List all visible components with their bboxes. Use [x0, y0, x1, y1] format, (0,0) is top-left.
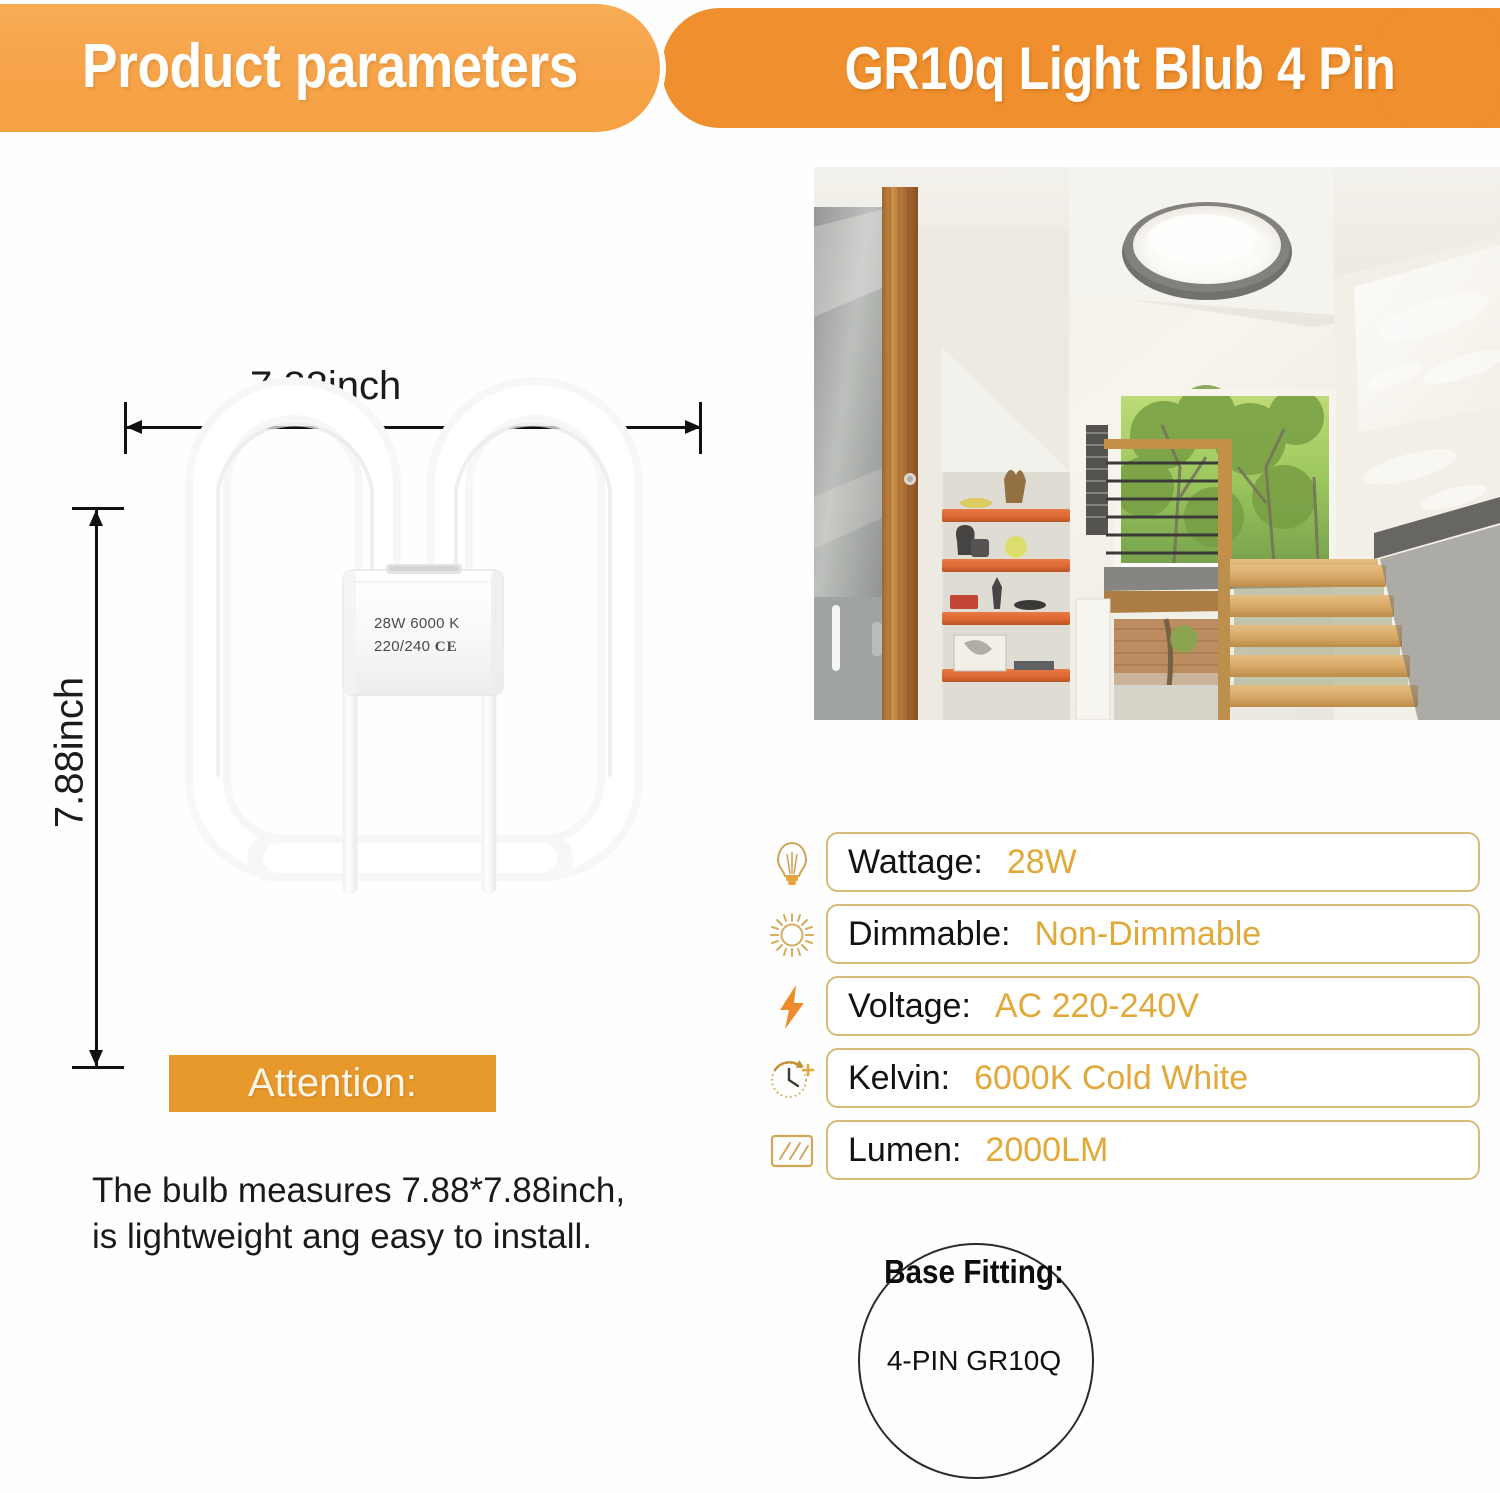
header-banner: GR10q Light Blub 4 Pin Product parameter… — [0, 0, 1500, 136]
bulb-base-printed-label: 28W 6000 K 220/240 CE — [374, 613, 534, 658]
height-dimension-line — [95, 508, 98, 1068]
hallway-stairwell-photo — [814, 167, 1500, 720]
bulb-icon — [763, 834, 821, 892]
spec-box-dimmable: Dimmable: Non-Dimmable — [826, 904, 1480, 964]
spec-value-wattage: 28W — [1007, 843, 1077, 882]
spec-value-lumen: 2000LM — [985, 1131, 1108, 1170]
spec-value-kelvin: 6000K Cold White — [974, 1059, 1248, 1098]
specifications-list: Wattage: 28W — [760, 832, 1500, 1182]
height-tick-bottom — [72, 1066, 124, 1069]
attention-badge: Attention: — [169, 1055, 496, 1112]
lifestyle-photo — [814, 167, 1500, 720]
spec-box-wattage: Wattage: 28W — [826, 832, 1480, 892]
spec-key-kelvin: Kelvin: — [848, 1059, 950, 1098]
spec-row-lumen: Lumen: 2000LM — [760, 1120, 1500, 1182]
attention-text: The bulb measures 7.88*7.88inch, is ligh… — [92, 1168, 712, 1260]
spec-value-dimmable: Non-Dimmable — [1034, 915, 1261, 954]
attention-badge-label: Attention: — [248, 1061, 417, 1106]
spec-value-voltage: AC 220-240V — [995, 987, 1199, 1026]
attention-text-line1: The bulb measures 7.88*7.88inch, — [92, 1168, 712, 1214]
spec-box-lumen: Lumen: 2000LM — [826, 1120, 1480, 1180]
bulb-label-line1: 28W 6000 K — [374, 613, 534, 636]
spec-key-lumen: Lumen: — [848, 1131, 961, 1170]
ce-mark-icon: CE — [435, 639, 458, 655]
sun-icon — [763, 906, 821, 964]
base-fitting-title: Base Fitting: — [870, 1253, 1079, 1291]
spec-box-voltage: Voltage: AC 220-240V — [826, 976, 1480, 1036]
header-left-title: Product parameters — [55, 10, 605, 122]
spec-key-wattage: Wattage: — [848, 843, 983, 882]
lightning-icon — [763, 978, 821, 1036]
spec-key-voltage: Voltage: — [848, 987, 971, 1026]
width-arrow-left-icon — [126, 420, 142, 434]
product-image-bulb: 28W 6000 K 220/240 CE — [150, 370, 690, 930]
spec-row-dimmable: Dimmable: Non-Dimmable — [760, 904, 1500, 966]
spec-row-wattage: Wattage: 28W — [760, 832, 1500, 894]
attention-text-line2: is lightweight ang easy to install. — [92, 1214, 712, 1260]
spec-key-dimmable: Dimmable: — [848, 915, 1010, 954]
bulb-label-line2: 220/240 — [374, 638, 430, 655]
base-fitting-value: 4-PIN GR10Q — [858, 1345, 1090, 1377]
height-dimension-label: 7.88inch — [48, 623, 93, 883]
spec-box-kelvin: Kelvin: 6000K Cold White — [826, 1048, 1480, 1108]
spec-row-voltage: Voltage: AC 220-240V — [760, 976, 1500, 1038]
height-arrow-bottom-icon — [89, 1050, 103, 1066]
height-arrow-top-icon — [89, 510, 103, 526]
clock-plus-icon — [763, 1050, 821, 1108]
spec-row-kelvin: Kelvin: 6000K Cold White — [760, 1048, 1500, 1110]
panel-light-icon — [763, 1122, 821, 1180]
product-infographic: GR10q Light Blub 4 Pin Product parameter… — [0, 0, 1500, 1493]
header-right-title: GR10q Light Blub 4 Pin — [826, 22, 1414, 114]
